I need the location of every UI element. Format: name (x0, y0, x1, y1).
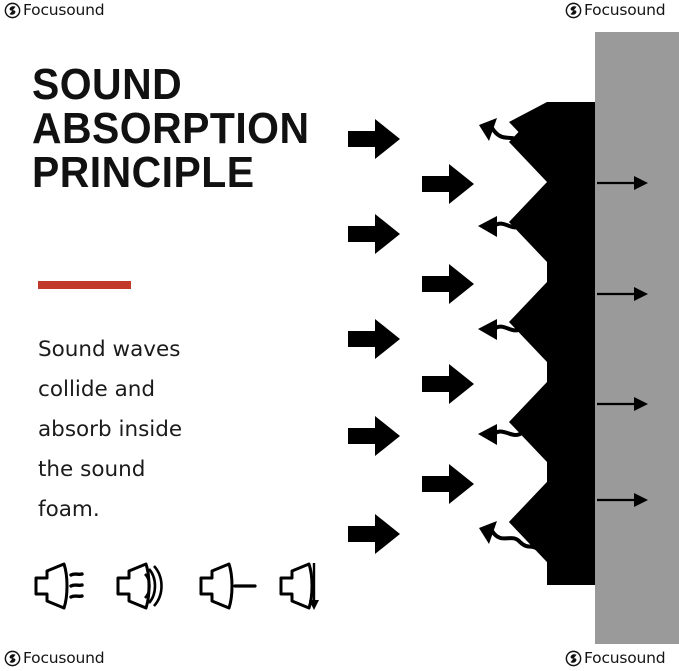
body-line-1: Sound waves (38, 330, 238, 370)
body-line-2: collide and (38, 370, 238, 410)
incoming-sound-arrow (422, 464, 474, 504)
incoming-sound-arrow (422, 164, 474, 204)
focusound-circle-swirl-icon (4, 650, 21, 667)
reflected-sound-squiggle (478, 216, 538, 237)
page-title: SOUND ABSORPTION PRINCIPLE (32, 63, 311, 195)
incoming-sound-arrow (348, 319, 400, 359)
speaker-dashes-icon (30, 556, 92, 616)
transmitted-sound-arrow (597, 176, 648, 190)
page-title-line-2: ABSORPTION (32, 107, 311, 151)
body-line-5: foam. (38, 490, 238, 530)
body-paragraph: Sound waves collide and absorb inside th… (38, 330, 238, 530)
incoming-sound-arrow (348, 416, 400, 456)
body-line-3: absorb inside (38, 410, 238, 450)
brand-logo-bottom-right[interactable]: Focusound (565, 650, 665, 667)
body-line-4: the sound (38, 450, 238, 490)
incoming-sound-arrow (348, 514, 400, 554)
incoming-sound-arrow (422, 264, 474, 304)
brand-logo-bottom-left[interactable]: Focusound (4, 650, 104, 667)
incoming-sound-arrow-group (348, 119, 400, 554)
transmitted-sound-arrow (597, 493, 648, 507)
speaker-waves-icon (112, 556, 174, 616)
reflected-sound-squiggle-group (478, 118, 539, 548)
speaker-down-arrow-icon (275, 556, 337, 616)
focusound-circle-swirl-icon (4, 2, 21, 19)
incoming-sound-arrow (422, 364, 474, 404)
brand-name: Focusound (584, 3, 665, 19)
brand-logo-top-left[interactable]: Focusound (4, 2, 104, 19)
reflected-sound-squiggle (478, 319, 538, 340)
speaker-icon-row (30, 556, 320, 616)
wall-surface (595, 32, 679, 644)
incoming-sound-arrow (348, 214, 400, 254)
brand-name: Focusound (23, 3, 104, 19)
page-title-line-3: PRINCIPLE (32, 151, 311, 195)
transmitted-sound-arrow (597, 287, 648, 301)
focusound-circle-swirl-icon (565, 650, 582, 667)
brand-name: Focusound (584, 651, 665, 667)
transmitted-sound-arrow-group (597, 176, 648, 507)
brand-name: Focusound (23, 651, 104, 667)
transmitted-sound-arrow (597, 397, 648, 411)
poster-canvas: SOUND ABSORPTION PRINCIPLE Sound waves c… (0, 0, 679, 671)
focusound-circle-swirl-icon (565, 2, 582, 19)
acoustic-foam-wedges (509, 102, 595, 585)
incoming-sound-arrow (348, 119, 400, 159)
reflected-sound-squiggle (479, 521, 536, 548)
reflected-sound-squiggle (479, 118, 537, 150)
incoming-sound-arrow-group-2 (422, 164, 474, 504)
speaker-line-icon (195, 556, 257, 616)
brand-logo-top-right[interactable]: Focusound (565, 2, 665, 19)
reflected-sound-squiggle (478, 424, 539, 445)
title-divider (38, 281, 131, 289)
page-title-line-1: SOUND (32, 63, 311, 107)
